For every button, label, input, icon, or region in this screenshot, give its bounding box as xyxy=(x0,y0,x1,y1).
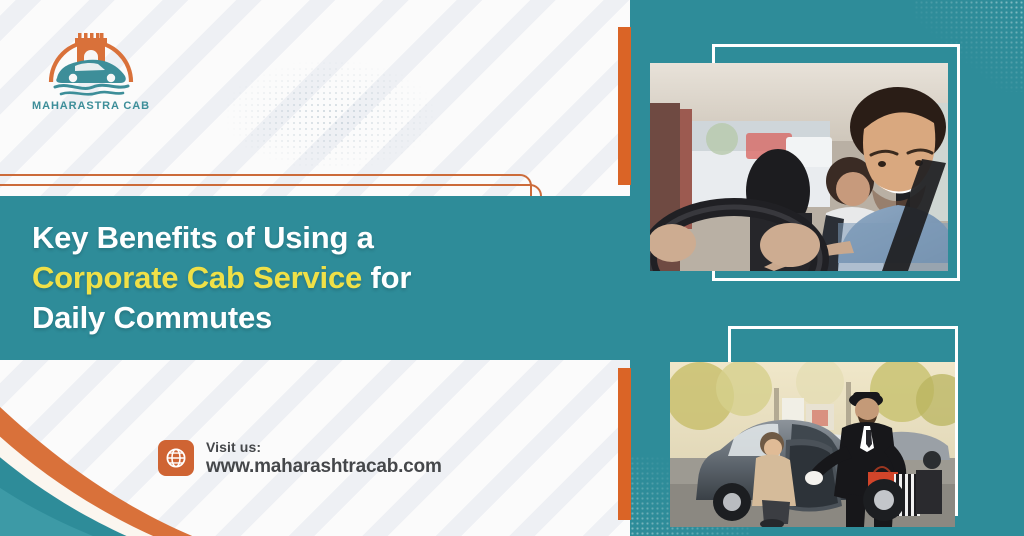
visit-us-text: Visit us: www.maharashtracab.com xyxy=(206,440,442,477)
photo-chauffeur-assisting xyxy=(670,362,955,527)
headline-line-2-tail: for xyxy=(362,260,411,295)
headline-line-1: Key Benefits of Using a xyxy=(32,218,592,258)
photo-driver-smiling xyxy=(650,63,948,271)
visit-us-label: Visit us: xyxy=(206,440,442,456)
visit-us-row[interactable]: Visit us: www.maharashtracab.com xyxy=(158,440,442,477)
background-dot-pattern xyxy=(225,60,435,170)
headline-line-2: Corporate Cab Service for xyxy=(32,258,592,298)
arch-car-logo-icon xyxy=(41,26,141,98)
brand-logo-text: MAHARASTRA CAB xyxy=(28,100,154,112)
website-url[interactable]: www.maharashtracab.com xyxy=(206,456,442,477)
promo-banner: MAHARASTRA CAB Key Benefits of Using a C… xyxy=(0,0,1024,536)
globe-icon xyxy=(158,440,194,476)
brand-logo[interactable]: MAHARASTRA CAB xyxy=(28,26,154,122)
orange-accent-bar-bottom xyxy=(618,368,631,520)
headline-accent: Corporate Cab Service xyxy=(32,260,362,295)
orange-accent-bar-top xyxy=(618,27,631,185)
headline-line-3: Daily Commutes xyxy=(32,298,592,338)
page-title: Key Benefits of Using a Corporate Cab Se… xyxy=(32,218,592,338)
